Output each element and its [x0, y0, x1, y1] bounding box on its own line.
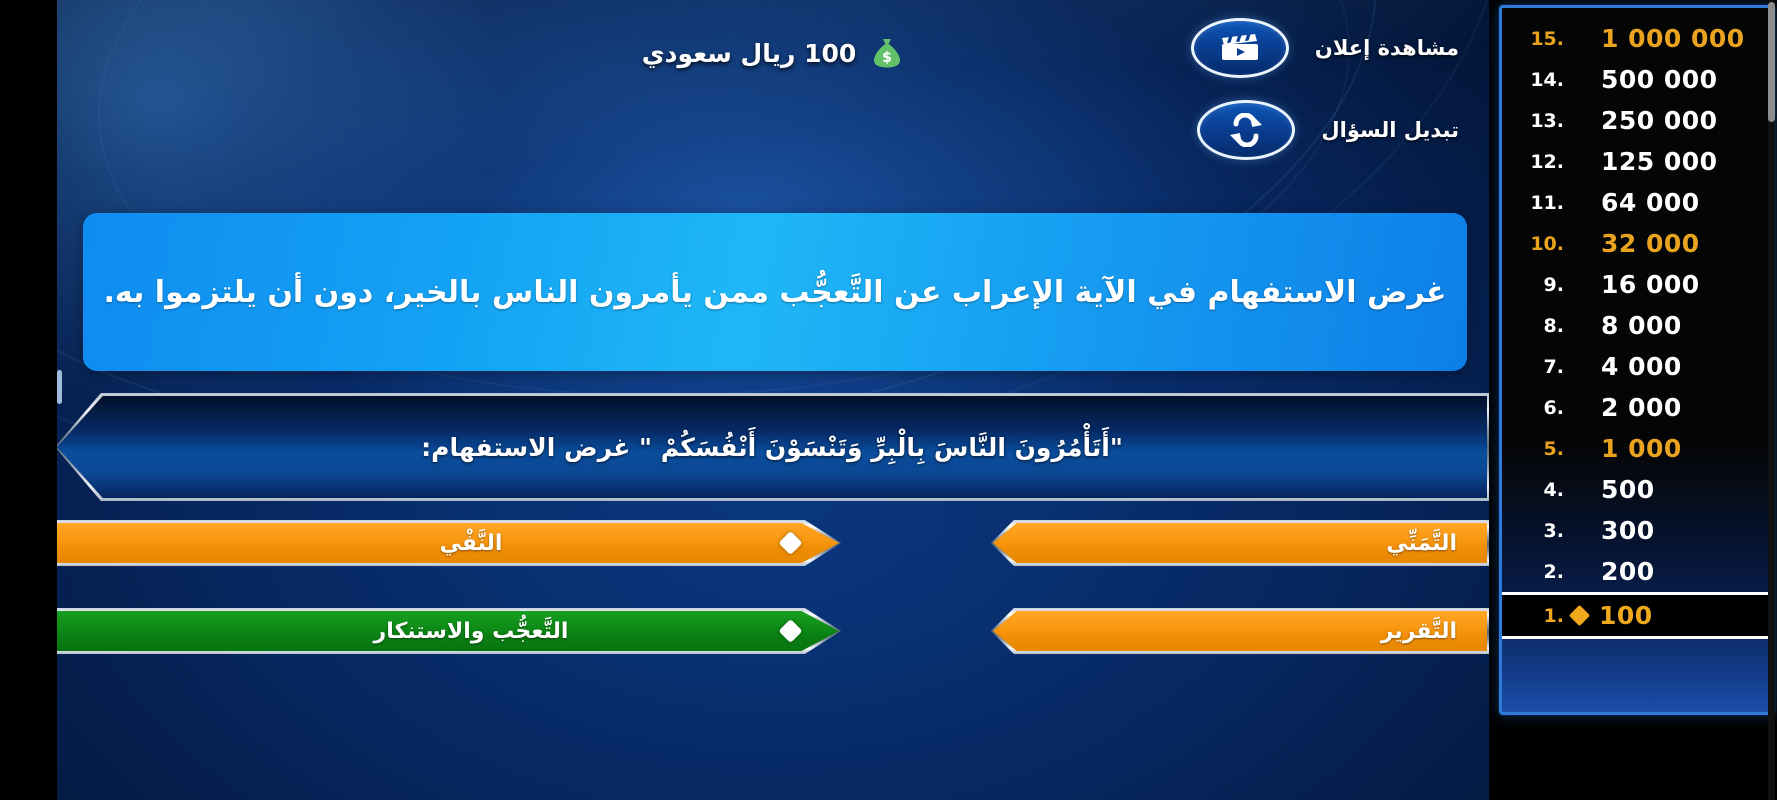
money-bag-icon: $ — [870, 36, 904, 70]
prize-row-number: 2. — [1502, 561, 1574, 583]
prize-ladder-row: 6.2 000 — [1502, 387, 1772, 428]
question-strip: "أَتَأْمُرُونَ النَّاسَ بِالْبِرِّ وَتَن… — [57, 393, 1489, 501]
prize-row-value: 200 — [1601, 557, 1655, 586]
answer-label: التَّمَنِّي — [993, 531, 1461, 556]
prize-row-number: 14. — [1502, 69, 1574, 91]
answer-label: النَّفْي — [103, 531, 839, 556]
prize-ladder-row: 10.32 000 — [1502, 223, 1772, 264]
question-strip-fill: "أَتَأْمُرُونَ النَّاسَ بِالْبِرِّ وَتَن… — [57, 396, 1487, 498]
prize-row-value: 4 000 — [1601, 352, 1682, 381]
prize-ladder-row: 15.1 000 000 — [1502, 18, 1772, 59]
prize-ladder-row: 9.16 000 — [1502, 264, 1772, 305]
prize-row-value: 125 000 — [1601, 147, 1718, 176]
answer-row-top: التَّمَنِّي النَّفْي — [57, 520, 1489, 566]
prize-row-number: 3. — [1502, 520, 1574, 542]
answer-label: التَّعجُّب والاستنكار — [103, 619, 839, 644]
prize-row-number: 13. — [1502, 110, 1574, 132]
prize-row-value: 250 000 — [1601, 106, 1718, 135]
prize-ladder-row: 3.300 — [1502, 510, 1772, 551]
question-banner-text: غرض الاستفهام في الآية الإعراب عن التَّع… — [83, 270, 1467, 315]
prize-row-value: 8 000 — [1601, 311, 1682, 340]
answer-option-d[interactable]: التَّعجُّب والاستنكار — [57, 608, 841, 654]
prize-row-value: 16 000 — [1601, 270, 1700, 299]
answer-fill: النَّفْي — [57, 523, 839, 563]
swap-arrows-icon — [1197, 100, 1295, 160]
answer-fill: التَّقرير — [993, 611, 1487, 651]
prize-row-number: 10. — [1502, 233, 1574, 255]
page-scrollbar-thumb[interactable] — [1768, 2, 1775, 122]
prize-ladder-row: 5.1 000 — [1502, 428, 1772, 469]
prize-row-value: 1 000 000 — [1601, 24, 1745, 53]
question-banner: غرض الاستفهام في الآية الإعراب عن التَّع… — [83, 213, 1467, 371]
answer-grid: التَّمَنِّي النَّفْي التَّقرير — [57, 520, 1489, 696]
prize-header: $ 100 ريال سعودي — [57, 36, 1489, 70]
prize-row-value: 500 000 — [1601, 65, 1718, 94]
lifeline-change-question[interactable]: تبديل السؤال — [1197, 100, 1459, 160]
question-text: "أَتَأْمُرُونَ النَّاسَ بِالْبِرِّ وَتَن… — [421, 433, 1123, 462]
prize-ladder-row: 14.500 000 — [1502, 59, 1772, 100]
prize-row-number: 7. — [1502, 356, 1574, 378]
page-scrollbar[interactable] — [1768, 0, 1775, 800]
playfield: مشاهدة إعلان تبديل الس — [57, 0, 1489, 800]
answer-option-a[interactable]: التَّمَنِّي — [991, 520, 1489, 566]
prize-amount-label: 100 ريال سعودي — [642, 39, 857, 68]
prize-ladder-row: 8.8 000 — [1502, 305, 1772, 346]
prize-row-value: 64 000 — [1601, 188, 1700, 217]
prize-row-number: 4. — [1502, 479, 1574, 501]
prize-ladder-row: 13.250 000 — [1502, 100, 1772, 141]
prize-row-value: 300 — [1601, 516, 1655, 545]
prize-row-number: 5. — [1502, 438, 1574, 460]
prize-row-number: 11. — [1502, 192, 1574, 214]
prize-row-number: 8. — [1502, 315, 1574, 337]
prize-row-number: 12. — [1502, 151, 1574, 173]
prize-ladder-row: 4.500 — [1502, 469, 1772, 510]
prize-row-value: 32 000 — [1601, 229, 1700, 258]
answer-fill: التَّمَنِّي — [993, 523, 1487, 563]
lifeline-label: تبديل السؤال — [1321, 118, 1459, 142]
answer-label: التَّقرير — [993, 619, 1461, 644]
prize-ladder[interactable]: 15.1 000 00014.500 00013.250 00012.125 0… — [1499, 5, 1775, 715]
answer-option-b[interactable]: النَّفْي — [57, 520, 841, 566]
prize-row-value: 100 — [1599, 601, 1653, 630]
left-rail — [0, 0, 57, 800]
prize-row-number: 6. — [1502, 397, 1574, 419]
prize-row-number: 9. — [1502, 274, 1574, 296]
prize-row-value: 1 000 — [1601, 434, 1682, 463]
answer-option-c[interactable]: التَّقرير — [991, 608, 1489, 654]
prize-row-value: 2 000 — [1601, 393, 1682, 422]
prize-ladder-row: 11.64 000 — [1502, 182, 1772, 223]
answer-row-bottom: التَّقرير التَّعجُّب والاستنكار — [57, 608, 1489, 654]
prize-ladder-rows: 15.1 000 00014.500 00013.250 00012.125 0… — [1502, 18, 1772, 639]
prize-ladder-row: 1.100 — [1502, 592, 1772, 639]
prize-row-number: 15. — [1502, 28, 1574, 50]
svg-text:$: $ — [882, 50, 892, 66]
prize-ladder-row: 7.4 000 — [1502, 346, 1772, 387]
prize-ladder-row: 2.200 — [1502, 551, 1772, 592]
prize-row-number: 1. — [1502, 605, 1574, 627]
playfield-edge-nub — [57, 370, 62, 404]
answer-fill: التَّعجُّب والاستنكار — [57, 611, 839, 651]
prize-row-value: 500 — [1601, 475, 1655, 504]
game-screen: مشاهدة إعلان تبديل الس — [0, 0, 1777, 800]
prize-ladder-row: 12.125 000 — [1502, 141, 1772, 182]
